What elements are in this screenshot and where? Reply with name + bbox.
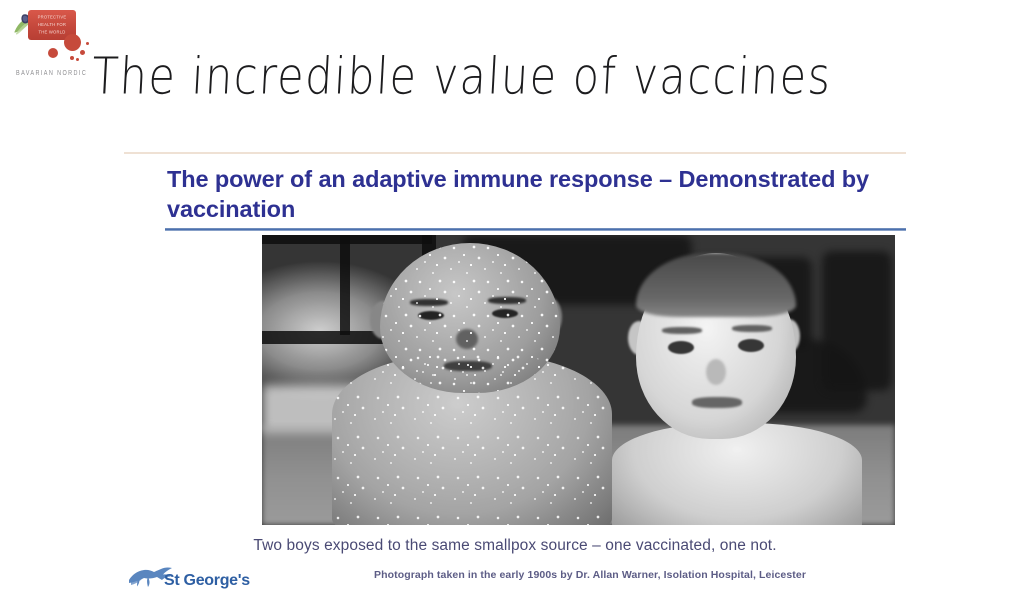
eye [738, 339, 764, 352]
divider-blue [165, 228, 906, 231]
st-georges-logo: St George's [122, 560, 272, 594]
pustule-texture-torso [332, 353, 612, 525]
eye [668, 341, 694, 354]
logo-dot [76, 58, 79, 61]
photo-caption: Two boys exposed to the same smallpox so… [124, 537, 906, 555]
nested-slide: The power of an adaptive immune response… [124, 152, 906, 594]
logo-dot [70, 56, 74, 60]
boy-unvaccinated [322, 235, 622, 525]
logo-dot [86, 42, 89, 45]
photo-credit: Photograph taken in the early 1900s by D… [274, 569, 906, 581]
st-georges-wordmark: St George's [164, 572, 250, 590]
boy-vaccinated [592, 235, 872, 525]
mouth [692, 397, 742, 408]
torso [612, 423, 862, 525]
page-title: The incredible value of vaccines [90, 48, 833, 107]
logo-dot [48, 48, 58, 58]
eyebrow [662, 327, 702, 334]
eyebrow [732, 325, 772, 332]
badge-text: PROTECTIVE HEALTH FOR THE WORLD [28, 13, 76, 35]
logo-dot [64, 34, 81, 51]
smallpox-comparison-photograph [262, 235, 895, 525]
brand-wordmark: BAVARIAN NORDIC [16, 70, 87, 78]
logo-dot [80, 50, 85, 55]
nose [706, 359, 726, 385]
hair [636, 253, 796, 317]
divider-top [124, 152, 906, 154]
nested-slide-heading: The power of an adaptive immune response… [167, 164, 897, 224]
